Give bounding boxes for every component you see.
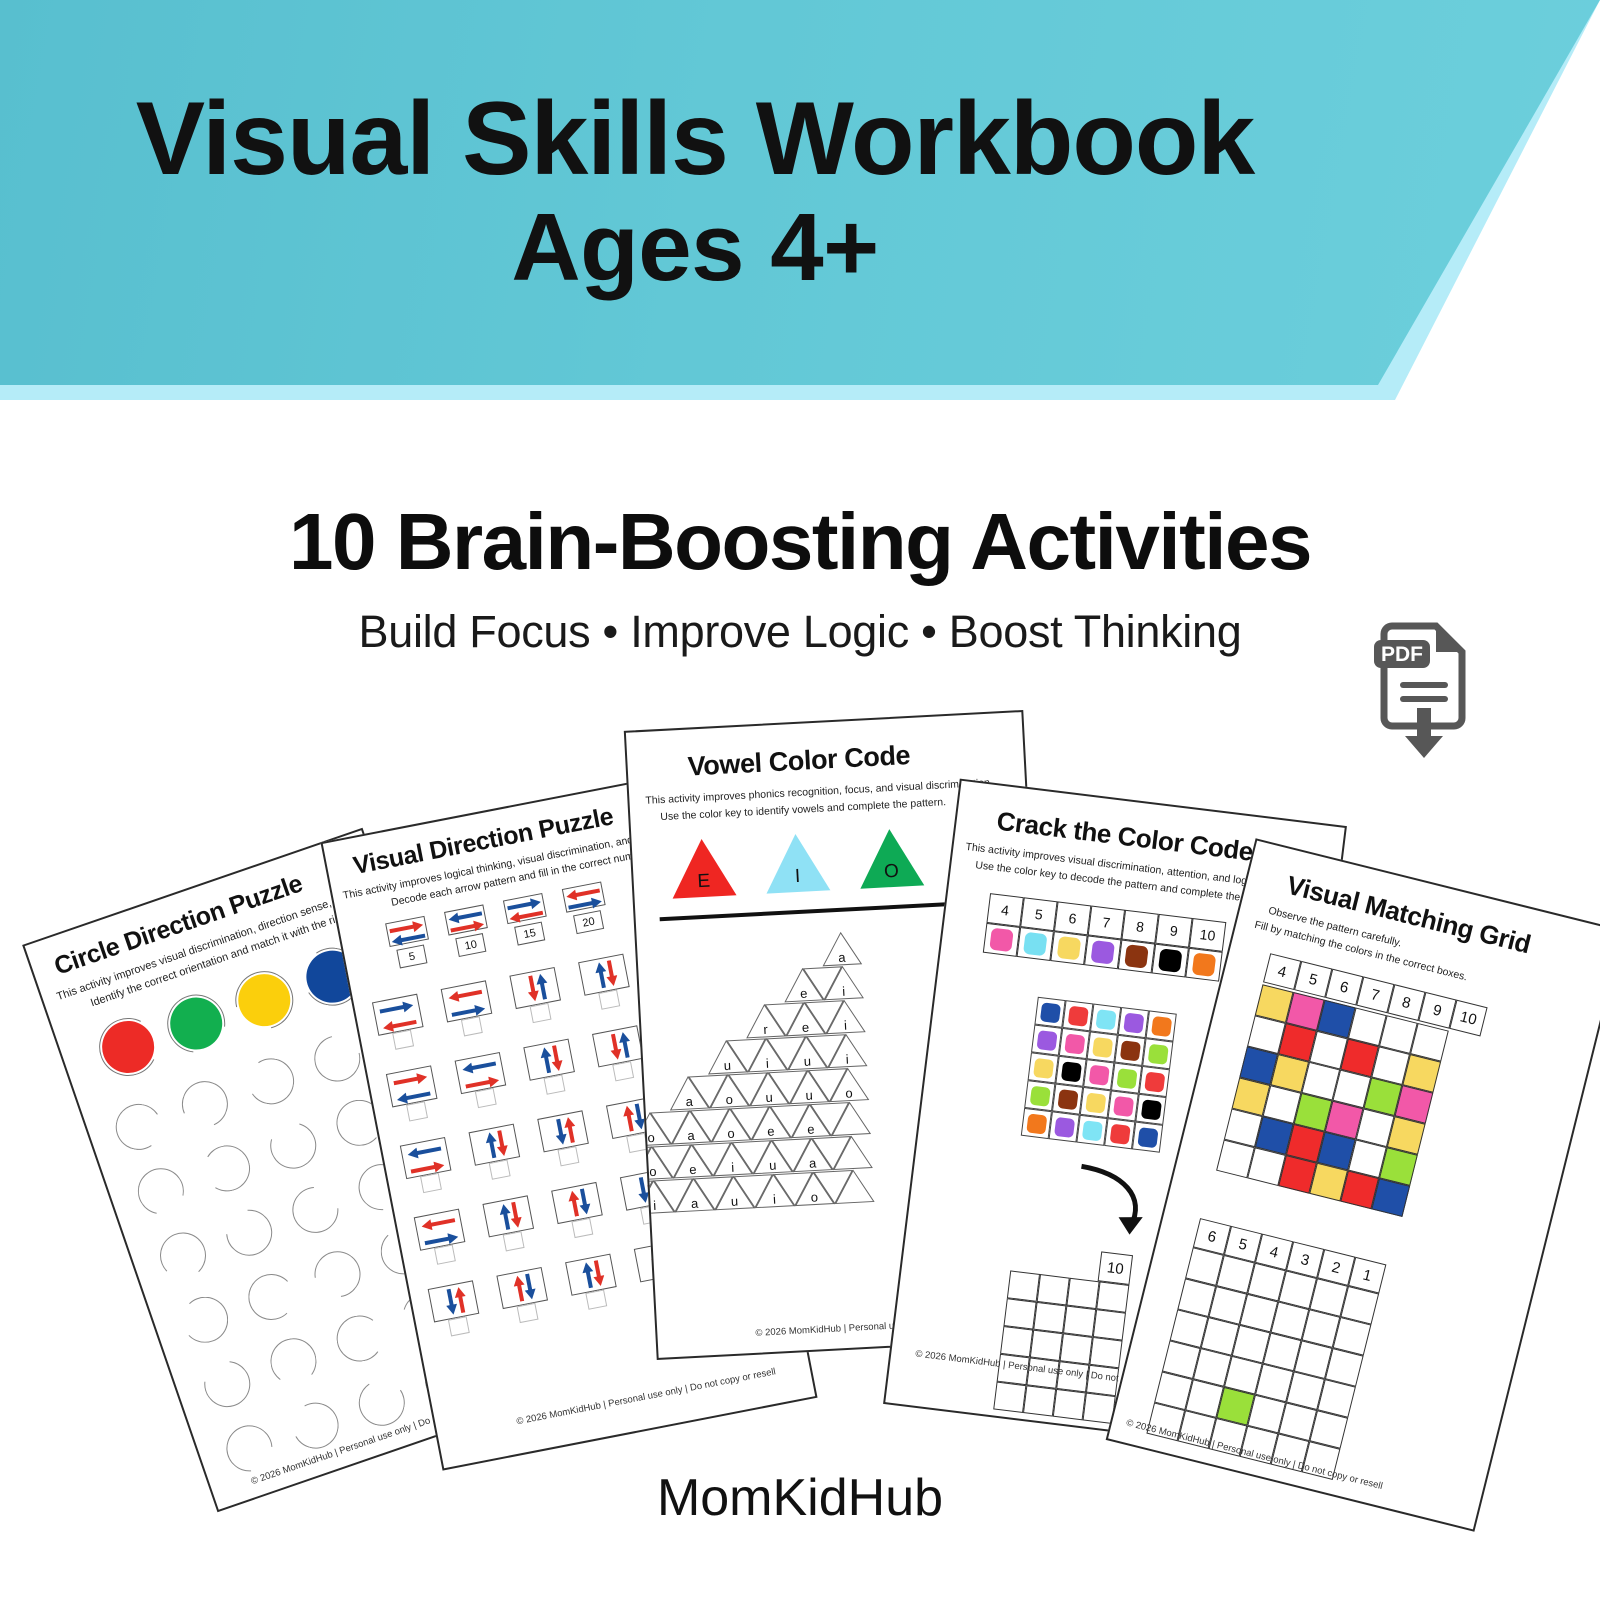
crack-grid-cell xyxy=(1024,1080,1055,1111)
crack-answer-cell[interactable] xyxy=(993,1382,1026,1413)
crack-grid-cell xyxy=(1034,997,1065,1028)
crack-answer-cell[interactable] xyxy=(1030,1330,1063,1361)
crack-legend-number: 5 xyxy=(1020,897,1057,931)
arrow-answer-box[interactable] xyxy=(557,1146,579,1166)
arrow-key-number: 5 xyxy=(396,944,427,968)
crack-grid-cell xyxy=(1028,1052,1059,1083)
arrow-puzzle-card xyxy=(469,1124,521,1166)
crack-legend-swatch xyxy=(1084,935,1121,969)
circle-open-shape xyxy=(217,1200,282,1265)
banner-text-group: Visual Skills Workbook Ages 4+ xyxy=(0,0,1390,385)
crack-legend-swatch xyxy=(1152,944,1189,978)
arrow-horizontal-icon xyxy=(447,985,482,1002)
crack-answer-cell[interactable] xyxy=(1007,1270,1040,1301)
crack-grid-cell xyxy=(1049,1111,1080,1142)
circle-open-shape xyxy=(182,1296,229,1343)
arrow-puzzle-card xyxy=(482,1195,534,1237)
circle-key-dot xyxy=(160,987,233,1060)
crack-legend-swatch xyxy=(1185,948,1222,982)
arrow-puzzle-card xyxy=(441,980,493,1022)
crack-answer-cell[interactable] xyxy=(1033,1302,1066,1333)
crack-grid-cell xyxy=(1021,1108,1052,1139)
vowel-key-letter: I xyxy=(763,864,832,890)
arrow-horizontal-icon xyxy=(464,1072,499,1089)
arrow-puzzle-item[interactable] xyxy=(523,1039,578,1098)
arrow-answer-box[interactable] xyxy=(598,990,620,1010)
crack-grid-cell xyxy=(1118,1007,1149,1038)
circle-key-dot xyxy=(95,1014,161,1080)
circle-open-shape xyxy=(112,1100,166,1154)
promo-block: 10 Brain-Boosting Activities Build Focus… xyxy=(0,500,1600,658)
crack-answer-cell[interactable] xyxy=(1093,1309,1126,1340)
crack-legend-number: 7 xyxy=(1088,906,1125,940)
vowel-key-item: E xyxy=(667,835,738,900)
crack-legend-number: 10 xyxy=(1189,918,1226,952)
crack-grid-cell xyxy=(1080,1087,1111,1118)
circle-open-shape xyxy=(160,1232,207,1279)
crack-grid-cell xyxy=(1135,1094,1166,1125)
arrow-key-card xyxy=(503,893,547,924)
vowel-key-item: O xyxy=(855,825,926,890)
crack-answer-cell[interactable] xyxy=(1089,1337,1122,1368)
sheet-title-vowel: Vowel Color Code xyxy=(687,740,911,783)
vowel-key-item: I xyxy=(761,830,832,895)
crack-answer-cell[interactable] xyxy=(1066,1278,1099,1309)
vowel-pyramid-cell: i xyxy=(822,965,864,1001)
arrow-puzzle-card xyxy=(509,967,561,1009)
vowel-key-letter: E xyxy=(669,869,738,895)
circle-open-shape xyxy=(195,1352,260,1417)
arrow-puzzle-item[interactable] xyxy=(428,1280,483,1339)
crack-grid-cell xyxy=(1104,1118,1135,1149)
arrow-key-number: 15 xyxy=(514,922,545,946)
crack-answer-grid[interactable]: 10 xyxy=(993,1241,1133,1424)
crack-grid-cell xyxy=(1142,1038,1173,1069)
crack-grid-cell xyxy=(1090,1004,1121,1035)
circle-open-shape xyxy=(355,1376,409,1430)
crack-legend-number: 9 xyxy=(1155,914,1192,948)
crack-legend-number: 8 xyxy=(1121,910,1158,944)
crack-grid-cell xyxy=(1059,1028,1090,1059)
promo-headline: 10 Brain-Boosting Activities xyxy=(0,500,1600,584)
circle-open-shape xyxy=(283,1177,348,1242)
arrow-answer-box[interactable] xyxy=(502,1231,524,1251)
arrow-puzzle-card xyxy=(592,1025,644,1067)
arrow-puzzle-item[interactable] xyxy=(386,1065,441,1124)
circle-key-dot xyxy=(229,964,300,1035)
arrow-puzzle-card xyxy=(414,1209,466,1251)
arrow-puzzle-card xyxy=(565,1254,617,1296)
crack-legend-swatch xyxy=(1017,927,1054,961)
arrow-puzzle-item[interactable] xyxy=(414,1209,469,1268)
arrow-puzzle-card xyxy=(537,1110,589,1152)
arrow-key-number: 20 xyxy=(573,910,604,934)
circle-key-ring xyxy=(91,1010,165,1084)
arrow-answer-box[interactable] xyxy=(529,1003,551,1023)
crack-grid-cell xyxy=(1055,1056,1086,1087)
vowel-pyramid-letter: a xyxy=(822,949,863,966)
vowel-pyramid-cell: i xyxy=(824,999,866,1035)
crack-grid-cell xyxy=(1146,1010,1177,1041)
arrow-key-card xyxy=(444,904,488,935)
arrow-puzzle-item[interactable] xyxy=(578,954,633,1013)
arrow-puzzle-card xyxy=(386,1065,438,1107)
circle-open-shape xyxy=(244,1054,298,1108)
arrow-horizontal-icon xyxy=(378,998,413,1015)
crack-legend-swatch xyxy=(1118,939,1155,973)
crack-grid-cell xyxy=(1076,1115,1107,1146)
worksheet-fan: Circle Direction Puzzle This activity im… xyxy=(0,700,1600,1520)
arrow-puzzle-card xyxy=(428,1280,480,1322)
brand-name: MomKidHub xyxy=(0,1468,1600,1528)
arrow-puzzle-item[interactable] xyxy=(565,1254,620,1313)
arrow-answer-box[interactable] xyxy=(460,1016,482,1036)
pdf-label: PDF xyxy=(1381,643,1423,666)
arrow-answer-box[interactable] xyxy=(474,1088,496,1108)
arrow-puzzle-item[interactable] xyxy=(441,980,496,1039)
crack-legend-swatch xyxy=(1050,931,1087,965)
crack-grid-cell xyxy=(1108,1090,1139,1121)
arrow-key-card xyxy=(562,881,606,912)
vowel-pyramid-cell: i xyxy=(826,1033,868,1069)
arrow-key-item: 5 xyxy=(385,916,433,970)
arrow-puzzle-card xyxy=(578,954,630,996)
arrow-horizontal-icon xyxy=(392,1070,427,1087)
workbook-age-range: Ages 4+ xyxy=(511,198,878,299)
arrow-horizontal-icon xyxy=(423,1229,458,1246)
arrow-horizontal-icon xyxy=(409,1157,444,1174)
crack-grid-cell xyxy=(1062,1000,1093,1031)
crack-legend-swatch xyxy=(983,923,1020,957)
vowel-pyramid-cell: a xyxy=(821,931,863,967)
arrow-key-item: 10 xyxy=(444,904,492,958)
arrow-key-item: 20 xyxy=(562,881,610,935)
crack-answer-cell[interactable] xyxy=(1000,1326,1033,1357)
circle-open-shape xyxy=(175,1074,234,1133)
crack-answer-cell[interactable] xyxy=(1037,1274,1070,1305)
arrow-key-number: 10 xyxy=(455,933,486,957)
arrow-puzzle-card xyxy=(455,1052,507,1094)
arrow-puzzle-item[interactable] xyxy=(592,1025,647,1084)
arrow-key-item: 15 xyxy=(503,893,551,947)
arrow-answer-box[interactable] xyxy=(571,1218,593,1238)
arrow-horizontal-icon xyxy=(420,1213,455,1230)
circle-open-shape xyxy=(248,1274,295,1321)
arrow-puzzle-item[interactable] xyxy=(482,1195,537,1254)
sheet-footer-arrows: © 2026 MomKidHub | Personal use only | D… xyxy=(516,1366,777,1427)
crack-answer-cell[interactable] xyxy=(1023,1385,1056,1416)
arrow-puzzle-item[interactable] xyxy=(400,1137,455,1196)
crack-grid-cell xyxy=(1114,1035,1145,1066)
crack-answer-cell[interactable] xyxy=(1003,1298,1036,1329)
crack-grid-cell xyxy=(1031,1025,1062,1056)
arrow-puzzle-item[interactable] xyxy=(537,1110,592,1169)
arrow-answer-box[interactable] xyxy=(433,1245,455,1265)
vowel-pyramid-row: a xyxy=(821,930,883,967)
arrow-answer-box[interactable] xyxy=(447,1316,469,1336)
arrow-puzzle-item[interactable] xyxy=(372,994,427,1053)
vowel-pyramid-cell xyxy=(830,1101,872,1137)
crack-grid-cell xyxy=(1132,1122,1163,1153)
arrow-puzzle-card xyxy=(496,1267,548,1309)
arrow-answer-box[interactable] xyxy=(516,1303,538,1323)
match-grid-cell xyxy=(1371,1178,1410,1217)
arrow-horizontal-icon xyxy=(450,1001,485,1018)
vowel-pyramid-cell xyxy=(831,1135,873,1171)
arrow-puzzle-item[interactable] xyxy=(455,1052,510,1111)
crack-grid-cell xyxy=(1052,1084,1083,1115)
workbook-title: Visual Skills Workbook xyxy=(136,86,1255,192)
crack-answer-cell[interactable] xyxy=(1053,1389,1086,1420)
header-banner: Visual Skills Workbook Ages 4+ xyxy=(0,0,1600,400)
arrow-answer-box[interactable] xyxy=(406,1101,428,1121)
arrow-puzzle-item[interactable] xyxy=(509,967,564,1026)
arrow-puzzle-card xyxy=(551,1182,603,1224)
crack-answer-cell[interactable] xyxy=(1060,1333,1093,1364)
crack-grid-cell xyxy=(1087,1031,1118,1062)
arrow-horizontal-icon xyxy=(396,1086,431,1103)
crack-answer-cell[interactable] xyxy=(1096,1281,1129,1312)
vowel-pyramid-cell xyxy=(833,1168,875,1204)
crack-color-grid xyxy=(1021,997,1177,1153)
arrow-puzzle-card xyxy=(523,1039,575,1081)
arrow-answer-box[interactable] xyxy=(420,1173,442,1193)
circle-open-shape xyxy=(287,1397,344,1454)
vowel-pyramid-cell: o xyxy=(828,1067,870,1103)
crack-grid-cell xyxy=(1083,1059,1114,1090)
crack-legend-number: 4 xyxy=(986,893,1023,927)
vowel-pyramid-letter: o xyxy=(829,1085,870,1102)
circle-open-shape xyxy=(305,1242,369,1306)
crack-answer-cell[interactable] xyxy=(1063,1305,1096,1336)
vowel-pyramid-letter: i xyxy=(827,1051,868,1068)
arrow-puzzle-card xyxy=(400,1137,452,1179)
vowel-key-letter: O xyxy=(857,859,926,885)
arrow-horizontal-icon xyxy=(406,1141,441,1158)
arrow-answer-box[interactable] xyxy=(585,1290,607,1310)
circle-key-ring xyxy=(224,960,304,1040)
arrow-puzzle-item[interactable] xyxy=(551,1182,606,1241)
circle-open-shape xyxy=(333,1312,386,1365)
arrow-answer-box[interactable] xyxy=(612,1061,634,1081)
arrow-puzzle-item[interactable] xyxy=(469,1124,524,1183)
vowel-pyramid-row: ei xyxy=(782,964,884,1003)
arrow-key-card xyxy=(385,916,429,947)
arrow-horizontal-icon xyxy=(382,1014,417,1031)
circle-open-shape xyxy=(262,1114,325,1177)
vowel-pyramid-letter: i xyxy=(825,1017,866,1034)
crack-legend-number: 6 xyxy=(1054,901,1091,935)
arrow-answer-box[interactable] xyxy=(543,1075,565,1095)
vowel-pyramid-letter: i xyxy=(823,983,864,1000)
arrow-answer-box[interactable] xyxy=(488,1160,510,1180)
circle-key-ring xyxy=(155,983,237,1065)
arrow-puzzle-item[interactable] xyxy=(496,1267,551,1326)
circle-open-shape xyxy=(267,1335,320,1388)
circle-open-shape xyxy=(129,1159,193,1223)
crack-grid-cell xyxy=(1111,1063,1142,1094)
arrow-horizontal-icon xyxy=(461,1056,496,1073)
crack-answer-header-number: 10 xyxy=(1098,1251,1133,1285)
crack-grid-cell xyxy=(1139,1066,1170,1097)
arrow-puzzle-card xyxy=(372,994,424,1036)
flow-arrow-icon xyxy=(1067,1158,1166,1248)
match-column-number: 10 xyxy=(1449,1000,1487,1037)
promo-subline: Build Focus • Improve Logic • Boost Thin… xyxy=(0,606,1600,658)
circle-open-shape xyxy=(199,1141,255,1197)
arrow-answer-box[interactable] xyxy=(392,1030,414,1050)
